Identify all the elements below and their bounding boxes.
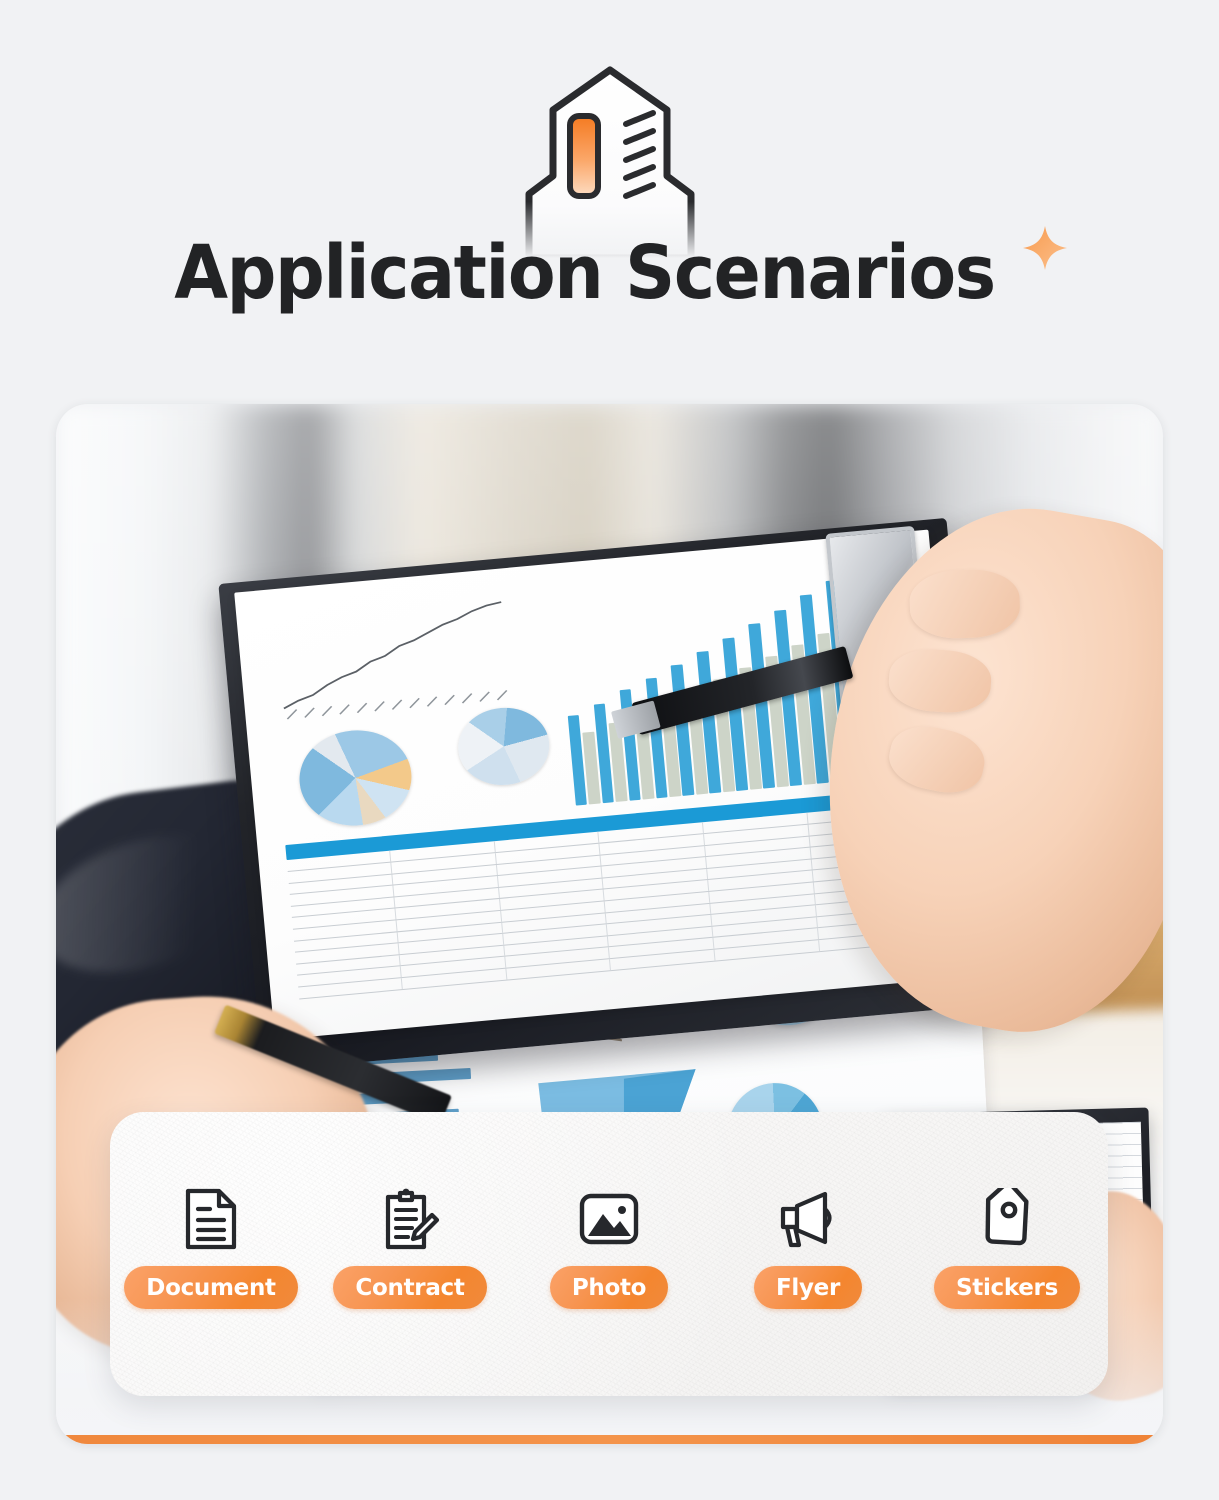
contract-clipboard-pen-icon [376,1184,444,1254]
data-table [284,788,925,1015]
finger [884,719,990,800]
megaphone-flyer-icon [774,1184,842,1254]
scenario-tag-label[interactable]: Flyer [754,1266,862,1309]
sparkle-star-icon [1019,222,1071,274]
pie-chart-report-1 [296,725,416,829]
page-title-row: Application Scenarios [0,236,1219,310]
scenario-tag-label[interactable]: Photo [550,1266,668,1309]
pie-chart-report-2 [455,704,552,788]
scenario-tag-flyer[interactable]: Flyer [709,1184,908,1309]
building-skyscraper-icon [495,58,725,258]
photo-image-icon [575,1184,643,1254]
scenario-tag-contract[interactable]: Contract [311,1184,510,1309]
scenario-tag-card: Document Contract [110,1112,1108,1396]
page-header: Application Scenarios [0,0,1219,390]
line-chart [271,593,531,723]
scenario-tag-label[interactable]: Document [124,1266,297,1309]
price-tag-icon [973,1184,1041,1254]
scenario-tag-label[interactable]: Stickers [934,1266,1080,1309]
scenario-tag-document[interactable]: Document [112,1184,311,1309]
document-icon [177,1184,245,1254]
scenario-tag-label[interactable]: Contract [333,1266,486,1309]
scenario-tag-photo[interactable]: Photo [510,1184,709,1309]
scenario-tag-row: Document Contract [110,1184,1108,1309]
finger [887,646,993,715]
finger [909,568,1021,639]
page-title: Application Scenarios [174,236,995,310]
scenario-tag-stickers[interactable]: Stickers [908,1184,1107,1309]
